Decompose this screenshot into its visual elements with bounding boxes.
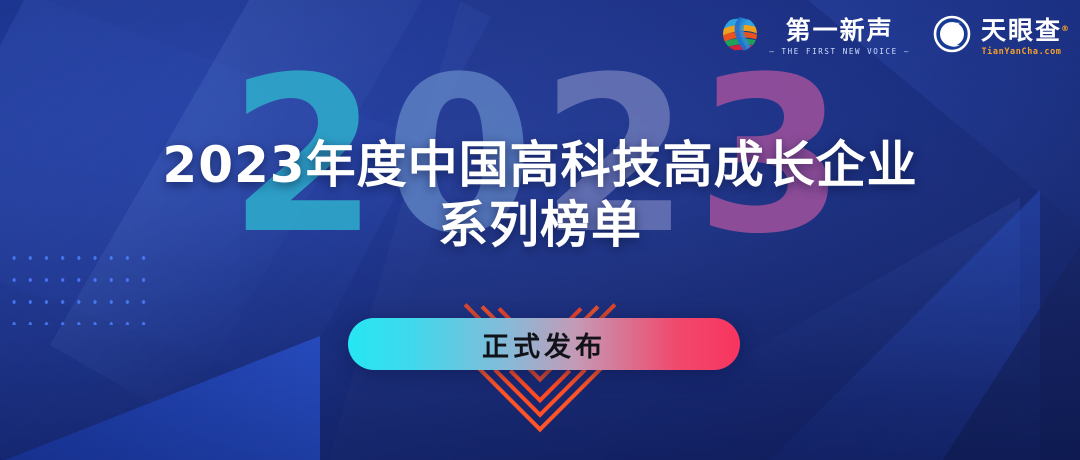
tianyancha-name: 天眼查 ® [981, 17, 1062, 45]
promo-banner: 2023 2023年度中国高科技高成长企业 系列榜单 正式发布 [0, 0, 1080, 460]
logo-diyi-xinsheng[interactable]: 第一新声 — THE FIRST NEW VOICE — [720, 14, 910, 59]
registered-mark: ® [1061, 15, 1071, 43]
logo-row: 第一新声 — THE FIRST NEW VOICE — 天眼查 ® [720, 14, 1062, 59]
diyi-xinsheng-swirl-icon [720, 14, 760, 59]
diyi-xinsheng-name: 第一新声 [786, 17, 894, 45]
tianyancha-domain: TianYanCha.com [981, 47, 1061, 57]
tianyancha-eye-icon [932, 14, 972, 59]
diyi-xinsheng-text: 第一新声 — THE FIRST NEW VOICE — [769, 17, 910, 56]
tianyancha-name-label: 天眼查 [981, 16, 1062, 45]
tianyancha-text: 天眼查 ® TianYanCha.com [981, 17, 1062, 57]
headline-line-1: 2023年度中国高科技高成长企业 [0, 136, 1080, 194]
release-status-button[interactable]: 正式发布 [348, 318, 740, 370]
diyi-xinsheng-tagline: — THE FIRST NEW VOICE — [769, 47, 910, 56]
logo-tianyancha[interactable]: 天眼查 ® TianYanCha.com [932, 14, 1062, 59]
